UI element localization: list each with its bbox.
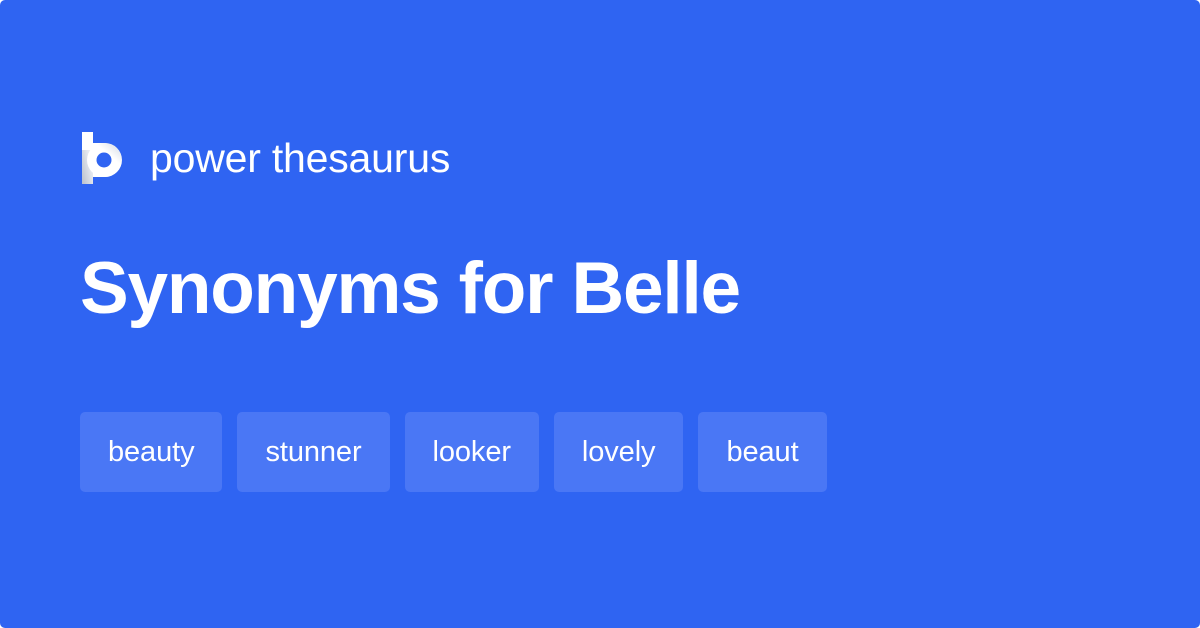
power-thesaurus-b-logo-icon (80, 132, 124, 184)
synonym-chip[interactable]: beaut (698, 412, 826, 492)
synonym-chip[interactable]: stunner (237, 412, 389, 492)
brand-lockup[interactable]: power thesaurus (80, 128, 450, 188)
share-card: power thesaurus Synonyms for Belle beaut… (0, 0, 1200, 628)
synonym-chip[interactable]: beauty (80, 412, 222, 492)
brand-name: power thesaurus (150, 138, 450, 179)
synonym-chip[interactable]: lovely (554, 412, 684, 492)
page-title: Synonyms for Belle (80, 252, 740, 325)
synonym-chip[interactable]: looker (405, 412, 539, 492)
synonym-chip-list: beauty stunner looker lovely beaut (80, 412, 827, 492)
